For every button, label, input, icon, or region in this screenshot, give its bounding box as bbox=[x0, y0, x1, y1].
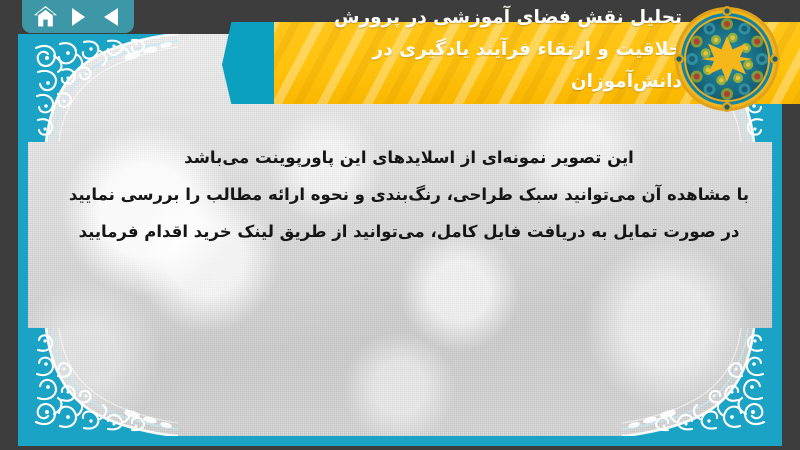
presentation-slide: این تصویر نمونه‌ای از اسلایدهای این پاور… bbox=[18, 34, 782, 446]
home-icon bbox=[34, 6, 57, 27]
home-button[interactable] bbox=[33, 5, 57, 29]
slide-content-area: این تصویر نمونه‌ای از اسلایدهای این پاور… bbox=[28, 34, 772, 436]
previous-slide-button[interactable] bbox=[99, 5, 123, 29]
slide-body-text: این تصویر نمونه‌ای از اسلایدهای این پاور… bbox=[68, 139, 750, 250]
slide-viewer: این تصویر نمونه‌ای از اسلایدهای این پاور… bbox=[0, 0, 800, 450]
body-line-3: در صورت تمایل به دریافت فایل کامل، می‌تو… bbox=[68, 213, 750, 250]
body-line-1: این تصویر نمونه‌ای از اسلایدهای این پاور… bbox=[68, 139, 750, 176]
arabesque-corner-ornament-top-right bbox=[622, 34, 772, 142]
arabesque-corner-ornament-bottom-left bbox=[28, 328, 178, 436]
next-slide-button[interactable] bbox=[66, 5, 90, 29]
body-line-2: با مشاهده آن می‌توانید سبک طراحی، رنگ‌بن… bbox=[68, 176, 750, 213]
arabesque-corner-ornament-top-left bbox=[28, 34, 178, 142]
left-triangle-icon bbox=[102, 7, 121, 27]
arabesque-corner-ornament-bottom-right bbox=[622, 328, 772, 436]
slide-navigation-bar bbox=[22, 0, 134, 33]
right-triangle-icon bbox=[71, 7, 86, 27]
